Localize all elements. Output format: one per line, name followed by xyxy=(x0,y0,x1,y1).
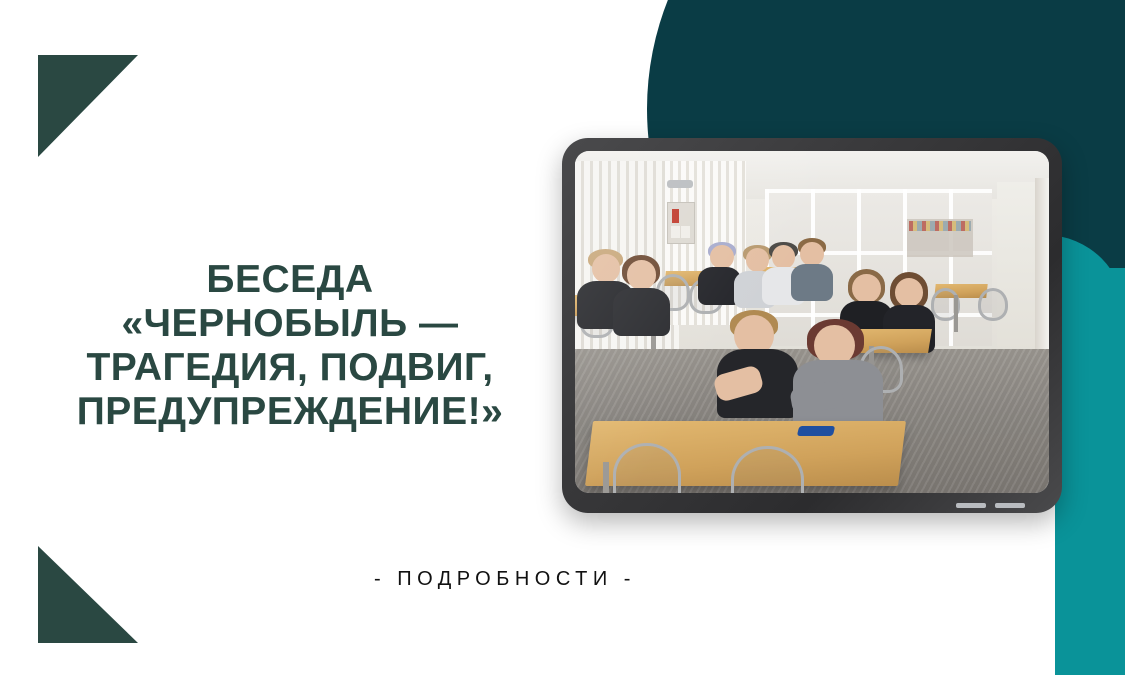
photo-shelf-items xyxy=(909,221,971,231)
photo-student xyxy=(772,245,796,269)
photo-student xyxy=(895,278,923,307)
photo-student xyxy=(710,245,734,269)
teal-block-right xyxy=(1055,268,1125,675)
photo-smartphone xyxy=(796,426,834,436)
photo-ceiling-lamp xyxy=(667,180,693,188)
triangle-top-left-icon xyxy=(38,55,138,157)
photo-student xyxy=(627,260,655,289)
poster-canvas: БЕСЕДА «ЧЕРНОБЫЛЬ — ТРАГЕДИЯ, ПОДВИГ, ПР… xyxy=(0,0,1125,675)
tablet-screen xyxy=(575,151,1049,493)
photo-notice-paper xyxy=(671,226,680,238)
photo-student xyxy=(852,274,880,303)
photo-student xyxy=(800,242,824,266)
subtitle-details: - ПОДРОБНОСТИ - xyxy=(0,568,1010,591)
tablet-foot-right xyxy=(995,503,1025,508)
photo-notice-paper xyxy=(681,226,690,238)
tablet-foot-left xyxy=(956,503,986,508)
photo-student xyxy=(791,264,834,302)
photo-student xyxy=(592,254,620,283)
triangle-bottom-left-icon xyxy=(38,546,138,643)
photo-student xyxy=(613,288,670,336)
photo-notice-poster xyxy=(672,209,680,223)
tablet-device xyxy=(562,138,1062,513)
photo-desk-leg xyxy=(954,295,958,333)
page-title: БЕСЕДА «ЧЕРНОБЫЛЬ — ТРАГЕДИЯ, ПОДВИГ, ПР… xyxy=(10,258,570,434)
photo-chair xyxy=(978,288,1008,321)
photo-desk-leg xyxy=(603,462,609,493)
